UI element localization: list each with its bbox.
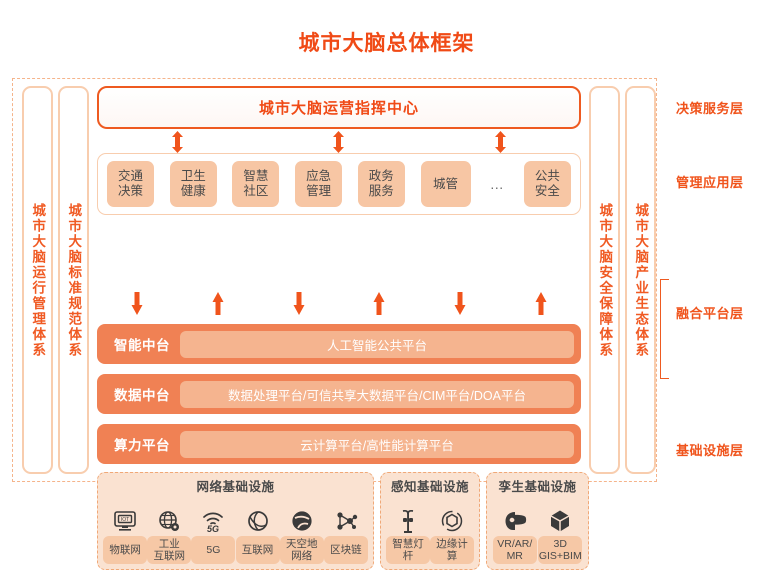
- edge-computing-icon: [440, 508, 464, 534]
- pillar-industry-ecosystem: 城市大脑产业生态体系: [625, 86, 656, 474]
- infra-item-label: 5G: [191, 536, 235, 564]
- infra-group-title: 网络基础设施: [103, 476, 368, 495]
- blockchain-nodes-icon: [334, 508, 358, 534]
- arrow-cell: [258, 291, 339, 316]
- globe-swoosh-icon: [246, 508, 270, 534]
- arrow-down-icon: [293, 292, 305, 315]
- platform-label: 智能中台: [104, 334, 180, 354]
- arrow-down-icon: [131, 292, 143, 315]
- arrow-down-icon: [454, 292, 466, 315]
- infra-item-blockchain[interactable]: 区块链: [324, 508, 368, 564]
- command-center-box: 城市大脑运营指挥中心: [97, 86, 581, 129]
- infra-item-space-air-ground-network[interactable]: 天空地 网络: [280, 508, 324, 564]
- arrow-cell: [97, 291, 178, 316]
- app-box-line2: 管理: [306, 184, 331, 199]
- arrow-cell: [420, 291, 501, 316]
- label-line1: 3D: [554, 538, 567, 550]
- svg-text:IOT: IOT: [121, 517, 129, 523]
- infra-item-label: 区块链: [324, 536, 368, 564]
- label-line1: 边缘计: [436, 538, 468, 550]
- infra-item-label: 智慧灯 杆: [386, 536, 430, 564]
- fusion-layer-bracket: [660, 279, 669, 379]
- label-line1: 工业: [159, 538, 180, 550]
- arrow-row-apps-to-platforms: [97, 291, 581, 316]
- label-line1: 互联网: [242, 544, 274, 556]
- infrastructure-band: 网络基础设施 IOT 物联网: [97, 472, 581, 570]
- app-box-line1: 政务: [369, 169, 394, 184]
- iot-monitor-icon: IOT: [113, 508, 137, 534]
- infra-items: VR/AR/ MR 3D GIS+BIM: [492, 496, 583, 564]
- label-line1: 智慧灯: [392, 538, 424, 550]
- arrow-cell: [500, 291, 581, 316]
- infra-item-3d-gis-bim[interactable]: 3D GIS+BIM: [538, 508, 582, 564]
- infra-item-label: 边缘计 算: [430, 536, 474, 564]
- arrow-cell: [97, 131, 258, 153]
- pillar-label: 城市大脑运行管理体系: [31, 203, 45, 358]
- app-box-urban-management[interactable]: 城管: [421, 161, 471, 207]
- label-line2: 杆: [403, 550, 414, 562]
- wifi-5g-icon: 5G: [201, 508, 225, 534]
- smart-lamppost-icon: [396, 508, 420, 534]
- arrow-up-icon: [373, 292, 385, 315]
- infra-item-vr-ar-mr[interactable]: VR/AR/ MR: [493, 508, 537, 564]
- infra-item-industrial-internet[interactable]: 工业 互联网: [147, 508, 191, 564]
- app-box-line1: 公共: [535, 169, 560, 184]
- platform-body: 数据处理平台/可信共享大数据平台/CIM平台/DOA平台: [180, 381, 574, 408]
- double-arrow-icon: [332, 131, 345, 153]
- application-row: 交通 决策 卫生 健康 智慧 社区 应急 管理 政务 服务 城管 … 公共 安全: [97, 153, 581, 215]
- label-line2: 互联网: [153, 550, 185, 562]
- infra-group-title: 感知基础设施: [386, 476, 474, 495]
- app-box-line2: 服务: [369, 184, 394, 199]
- label-line2: GIS+BIM: [539, 550, 582, 562]
- infra-item-edge-computing[interactable]: 边缘计 算: [430, 508, 474, 564]
- pillar-security-assurance: 城市大脑安全保障体系: [589, 86, 620, 474]
- infra-item-smart-lamppost[interactable]: 智慧灯 杆: [386, 508, 430, 564]
- app-ellipsis: …: [486, 176, 508, 192]
- arrow-cell: [258, 131, 419, 153]
- arrow-up-icon: [535, 292, 547, 315]
- platform-row-intelligent-midplatform: 智能中台 人工智能公共平台: [97, 324, 581, 364]
- vr-headset-icon: [502, 508, 528, 534]
- infra-group-digital-twin: 孪生基础设施 VR/AR/ MR: [486, 472, 589, 570]
- infra-item-label: 天空地 网络: [280, 536, 324, 564]
- app-box-public-safety[interactable]: 公共 安全: [524, 161, 571, 207]
- app-box-line1: 交通: [118, 169, 143, 184]
- label-line1: 5G: [206, 544, 220, 556]
- infra-group-network: 网络基础设施 IOT 物联网: [97, 472, 374, 570]
- pillar-standards-norms: 城市大脑标准规范体系: [58, 86, 89, 474]
- arrow-up-icon: [212, 292, 224, 315]
- platform-row-data-midplatform: 数据中台 数据处理平台/可信共享大数据平台/CIM平台/DOA平台: [97, 374, 581, 414]
- platform-body: 人工智能公共平台: [180, 331, 574, 358]
- infra-item-label: 工业 互联网: [147, 536, 191, 564]
- label-line2: 网络: [291, 550, 312, 562]
- platform-label: 算力平台: [104, 434, 180, 454]
- app-box-traffic-decision[interactable]: 交通 决策: [107, 161, 154, 207]
- app-box-line1: 智慧: [243, 169, 268, 184]
- app-box-smart-community[interactable]: 智慧 社区: [232, 161, 279, 207]
- label-line2: 算: [447, 550, 458, 562]
- globe-gear-icon: [157, 508, 181, 534]
- pillar-label: 城市大脑安全保障体系: [598, 203, 612, 358]
- satellite-globe-icon: [290, 508, 314, 534]
- page-title: 城市大脑总体框架: [0, 27, 773, 57]
- label-line1: 区块链: [330, 544, 362, 556]
- infra-item-label: 物联网: [103, 536, 147, 564]
- diagram-center-column: 城市大脑运营指挥中心 交通 决策 卫生 健康 智慧: [97, 86, 581, 474]
- app-box-line2: 安全: [535, 184, 560, 199]
- app-box-line2: 决策: [118, 184, 143, 199]
- double-arrow-icon: [494, 131, 507, 153]
- app-box-line1: 卫生: [181, 169, 206, 184]
- app-box-line2: 社区: [243, 184, 268, 199]
- arrow-row-command-to-apps: [97, 131, 581, 153]
- platform-body: 云计算平台/高性能计算平台: [180, 431, 574, 458]
- infra-item-label: 互联网: [236, 536, 280, 564]
- svg-text:5G: 5G: [207, 524, 219, 533]
- pillar-label: 城市大脑产业生态体系: [634, 203, 648, 358]
- layer-label-fusion-platform: 融合平台层: [676, 303, 744, 322]
- app-box-health[interactable]: 卫生 健康: [170, 161, 217, 207]
- layer-label-management-application: 管理应用层: [676, 172, 744, 191]
- pillar-operation-management: 城市大脑运行管理体系: [22, 86, 53, 474]
- double-arrow-icon: [171, 131, 184, 153]
- infra-group-title: 孪生基础设施: [492, 476, 583, 495]
- app-box-emergency-management[interactable]: 应急 管理: [295, 161, 342, 207]
- layer-label-decision-service: 决策服务层: [676, 98, 744, 117]
- arrow-cell: [178, 291, 259, 316]
- arrow-cell: [339, 291, 420, 316]
- layer-label-infrastructure: 基础设施层: [676, 440, 744, 459]
- infra-items: 智慧灯 杆 边缘计 算: [386, 496, 474, 564]
- label-line1: 天空地: [286, 538, 318, 550]
- platform-label: 数据中台: [104, 384, 180, 404]
- infra-item-label: 3D GIS+BIM: [538, 536, 582, 564]
- label-line1: 物联网: [109, 544, 141, 556]
- pillar-label: 城市大脑标准规范体系: [67, 203, 81, 358]
- arrow-cell: [420, 131, 581, 153]
- infra-item-5g[interactable]: 5G 5G: [191, 508, 235, 564]
- app-box-line1: 应急: [306, 169, 331, 184]
- infra-item-internet[interactable]: 互联网: [236, 508, 280, 564]
- 3d-cube-icon: [548, 508, 572, 534]
- app-box-line1: 城管: [433, 177, 458, 192]
- infra-items: IOT 物联网: [103, 496, 368, 564]
- infra-group-sensing: 感知基础设施 智慧灯: [380, 472, 480, 570]
- infra-item-iot[interactable]: IOT 物联网: [103, 508, 147, 564]
- app-box-line2: 健康: [181, 184, 206, 199]
- platform-row-computing-platform: 算力平台 云计算平台/高性能计算平台: [97, 424, 581, 464]
- infra-item-label: VR/AR/ MR: [493, 536, 537, 564]
- label-line2: MR: [507, 550, 523, 562]
- label-line1: VR/AR/: [497, 538, 532, 550]
- app-box-government-service[interactable]: 政务 服务: [358, 161, 405, 207]
